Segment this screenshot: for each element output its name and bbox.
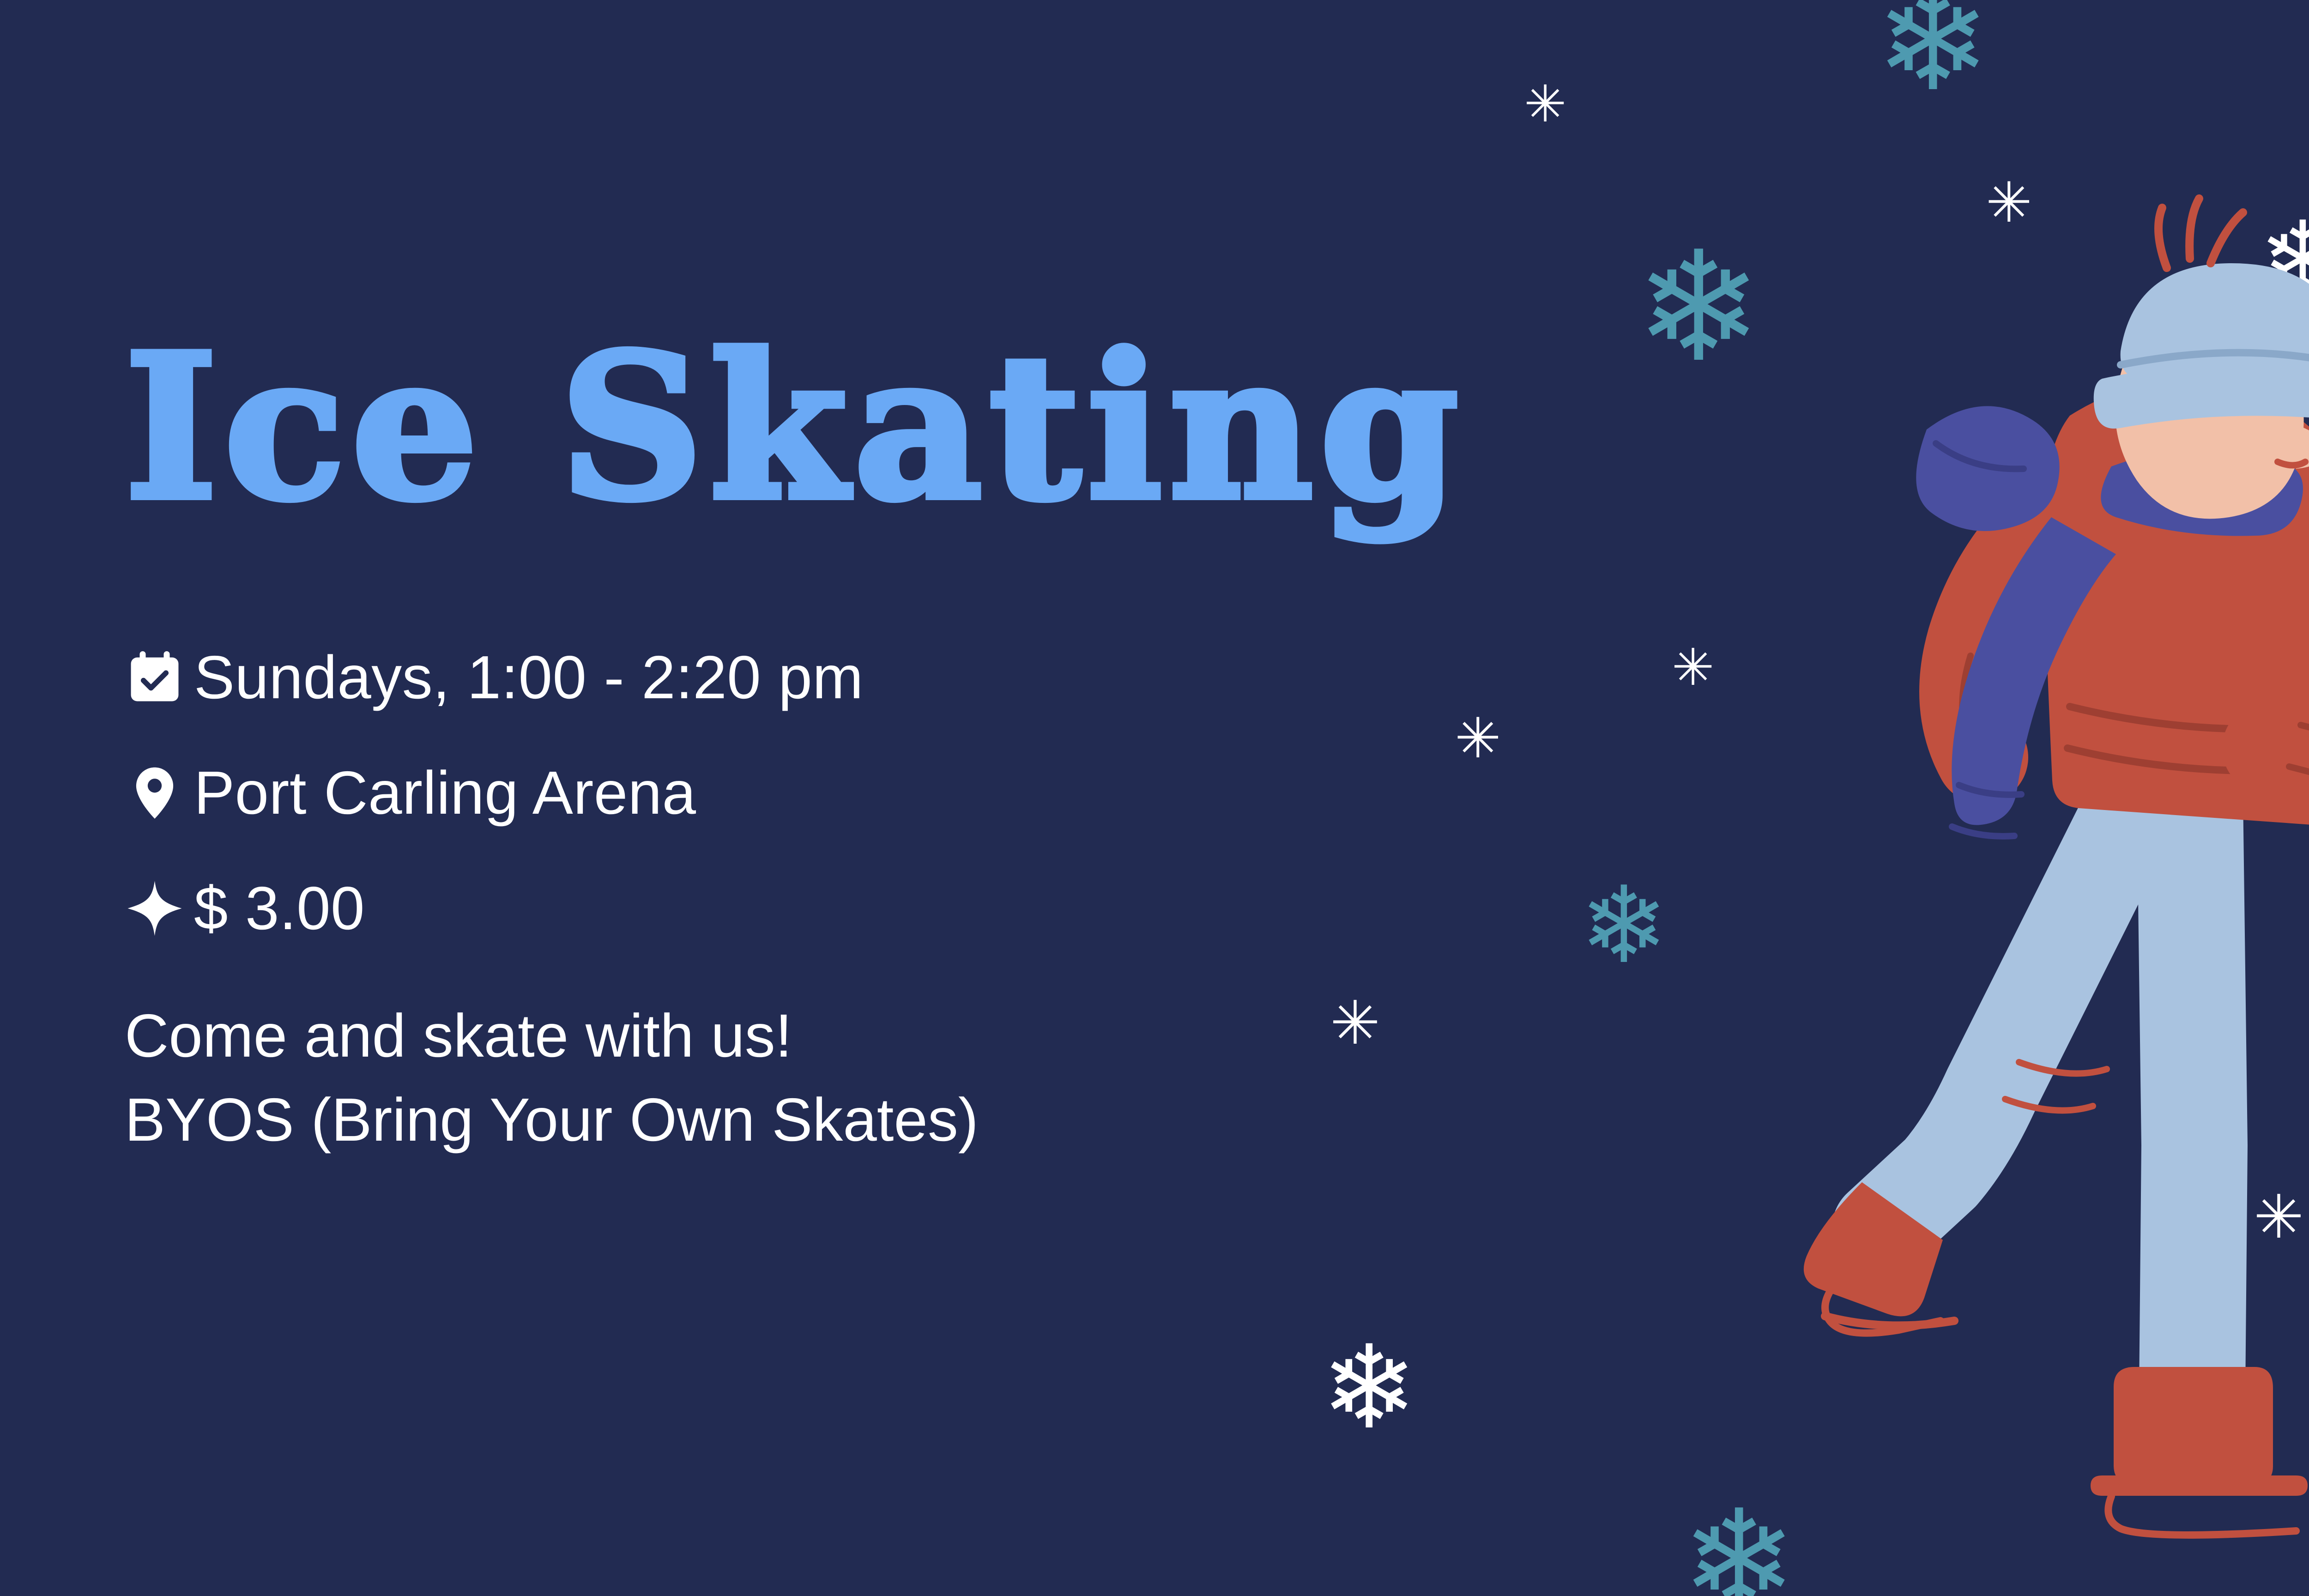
- detail-row-location: Port Carling Arena: [125, 763, 1602, 823]
- detail-row-price: $ 3.00: [125, 878, 1602, 938]
- page-title: Ice Skating: [125, 323, 1602, 532]
- calendar-check-icon: [125, 647, 194, 707]
- blurb: Come and skate with us! BYOS (Bring Your…: [125, 994, 1602, 1162]
- sparkle-icon: [125, 878, 194, 938]
- detail-text-price: $ 3.00: [194, 873, 365, 943]
- poster-content: Ice Skating Sundays, 1:00 - 2:20 pm: [125, 323, 1602, 1162]
- detail-row-date: Sundays, 1:00 - 2:20 pm: [125, 647, 1602, 707]
- event-details-list: Sundays, 1:00 - 2:20 pm Port Carling Are…: [125, 647, 1602, 938]
- poster-canvas: ❄ ❄ ✳ ✳ ❄ ✳ ❄ ❄ ✳ ✳ ✳ ✳ ❄ ✳ ✳ ❄ ✳ ❄ ❄ ❄ …: [0, 0, 2309, 1596]
- detail-text-date: Sundays, 1:00 - 2:20 pm: [194, 642, 864, 712]
- blurb-line-1: Come and skate with us!: [125, 994, 1602, 1078]
- location-pin-icon: [125, 763, 194, 823]
- blurb-line-2: BYOS (Bring Your Own Skates): [125, 1078, 1602, 1162]
- snowflake-icon: ❄: [1321, 1330, 1417, 1445]
- detail-text-location: Port Carling Arena: [194, 758, 696, 828]
